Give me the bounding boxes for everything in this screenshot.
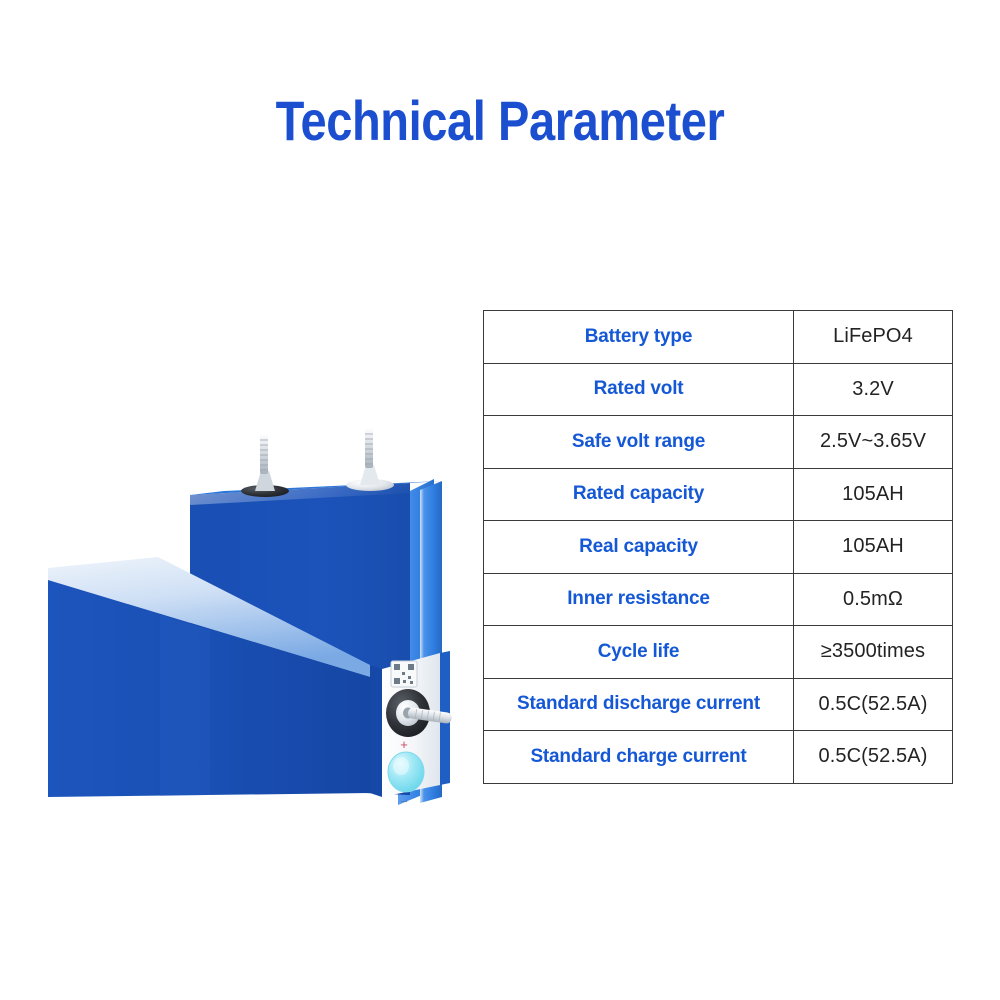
- spec-table-body: Battery type LiFePO4 Rated volt 3.2V Saf…: [484, 311, 953, 784]
- table-row: Real capacity 105AH: [484, 521, 953, 574]
- negative-polarity-mark: −: [400, 794, 408, 809]
- spec-value-standard-discharge-current: 0.5C(52.5A): [794, 678, 953, 731]
- table-row: Inner resistance 0.5mΩ: [484, 573, 953, 626]
- spec-label-rated-volt: Rated volt: [484, 363, 794, 416]
- positive-polarity-mark: +: [400, 737, 408, 752]
- table-row: Safe volt range 2.5V~3.65V: [484, 416, 953, 469]
- spec-value-standard-charge-current: 0.5C(52.5A): [794, 731, 953, 784]
- qr-code-icon: [391, 661, 417, 687]
- table-row: Standard discharge current 0.5C(52.5A): [484, 678, 953, 731]
- spec-label-inner-resistance: Inner resistance: [484, 573, 794, 626]
- spec-table: Battery type LiFePO4 Rated volt 3.2V Saf…: [483, 310, 953, 784]
- spec-value-rated-capacity: 105AH: [794, 468, 953, 521]
- spec-value-real-capacity: 105AH: [794, 521, 953, 574]
- table-row: Cycle life ≥3500times: [484, 626, 953, 679]
- table-row: Rated capacity 105AH: [484, 468, 953, 521]
- safety-vent-icon: [388, 752, 424, 792]
- spec-label-standard-charge-current: Standard charge current: [484, 731, 794, 784]
- product-image: + −: [10, 285, 480, 815]
- table-row: Rated volt 3.2V: [484, 363, 953, 416]
- spec-value-safe-volt-range: 2.5V~3.65V: [794, 416, 953, 469]
- spec-value-rated-volt: 3.2V: [794, 363, 953, 416]
- front-cell-sheen: [160, 615, 210, 796]
- table-row: Standard charge current 0.5C(52.5A): [484, 731, 953, 784]
- spec-label-battery-type: Battery type: [484, 311, 794, 364]
- spec-label-cycle-life: Cycle life: [484, 626, 794, 679]
- spec-value-cycle-life: ≥3500times: [794, 626, 953, 679]
- front-cell-right-bevel: [370, 665, 382, 797]
- spec-label-rated-capacity: Rated capacity: [484, 468, 794, 521]
- spec-label-safe-volt-range: Safe volt range: [484, 416, 794, 469]
- spec-value-inner-resistance: 0.5mΩ: [794, 573, 953, 626]
- table-row: Battery type LiFePO4: [484, 311, 953, 364]
- battery-cells-illustration: + −: [10, 285, 480, 815]
- spec-label-real-capacity: Real capacity: [484, 521, 794, 574]
- spec-label-standard-discharge-current: Standard discharge current: [484, 678, 794, 731]
- rear-cell-negative-terminal: [241, 434, 289, 497]
- page-title: Technical Parameter: [80, 92, 920, 151]
- spec-value-battery-type: LiFePO4: [794, 311, 953, 364]
- rear-cell-positive-terminal: [346, 428, 394, 491]
